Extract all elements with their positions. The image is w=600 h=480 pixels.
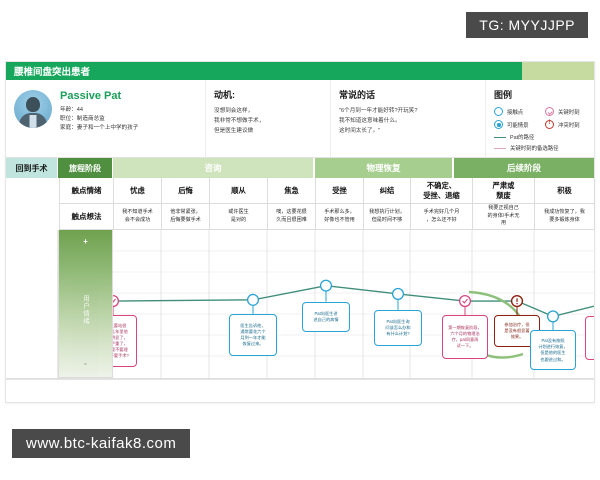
- persona-banner-title: 腰椎间盘突出患者: [6, 62, 522, 80]
- legend-item-alt-path: 关键时刻的备选路径: [494, 144, 588, 152]
- legend-icon-grid: 接触点 关键时刻 可能情景 冲突时刻: [494, 107, 588, 129]
- legend-label-alt-path: 关键时刻的备选路径: [510, 144, 559, 152]
- legend-label-conflict: 冲突时刻: [558, 121, 580, 129]
- legend-line-rows: Pat的路径 关键时刻的备选路径: [494, 133, 588, 152]
- key-moment-check-icon: [545, 107, 554, 116]
- quote-text: "6个月到一年才能好转?开玩笑?我不知道这意味着什么。这时间太长了。": [339, 107, 479, 136]
- persona-motivation: 动机: 没想到会这样，我非常不想做手术，但是医生建议做: [206, 80, 331, 157]
- journey-callout: 医生告诉他，通常要花六个月到一年才能恢复过来。: [229, 314, 277, 356]
- legend-label-possible-scenario: 可能情景: [507, 121, 529, 129]
- emotion-cell: 后悔: [162, 178, 210, 204]
- emotion-cell: 忧虑: [114, 178, 162, 204]
- legend-item-possible-scenario: 可能情景: [494, 120, 537, 129]
- persona-quote: 常说的话 "6个月到一年才能好转?开玩笑?我不知道这意味着什么。这时间太长了。": [331, 80, 486, 157]
- thought-cell: 我要正视自己的身体/手术无用: [473, 204, 535, 230]
- journey-map-board: 腰椎间盘突出患者 Passive Pat 年龄：44 职位：制造商总监 家庭：妻…: [6, 62, 594, 402]
- emotion-cell: 纠结: [364, 178, 411, 204]
- emotion-cell: 不确定、受挫、退缩: [411, 178, 473, 204]
- journey-stage-label: 旅程阶段: [58, 158, 113, 178]
- axis-ylabel: 用户情绪: [82, 295, 90, 325]
- axis-plus-marker: +: [59, 237, 112, 246]
- persona-banner-tail: [522, 62, 594, 80]
- possible-scenario-icon: [494, 120, 503, 129]
- emotion-cell: 严肃或颓废: [473, 178, 535, 204]
- thought-cell: 手术完好几个月，怎么还不好: [411, 204, 473, 230]
- thought-cell: 或许医生是对的: [210, 204, 268, 230]
- back-to-surgery-label: 回到手术: [6, 158, 58, 178]
- board-bottom-strip: [6, 379, 594, 394]
- persona-detail-role: 职位：制造商总监: [60, 115, 138, 124]
- legend-item-touchpoint: 接触点: [494, 107, 537, 116]
- stage-header-row: 回到手术 旅程阶段 咨询 物理恢复 后续阶段: [6, 158, 594, 178]
- persona-detail-age: 年龄：44: [60, 106, 138, 115]
- journey-callout: 第一期恢复阶段，六个月的物理治疗，pat同意再试一下。: [442, 315, 488, 359]
- legend-label-touchpoint: 接触点: [507, 108, 523, 116]
- axis-minus-marker: -: [59, 359, 112, 368]
- legend-item-key-moment: 关键时刻: [545, 107, 588, 116]
- journey-callout: Pat向医生讲述自己的病情: [302, 302, 350, 332]
- quote-heading: 常说的话: [339, 88, 479, 101]
- chart-plot-area: pat每天要站很久，这几年里他疼痛更明显了，疼痛更严重了，医生说要不要理疗，要不…: [113, 230, 594, 378]
- emotion-row: 触点情绪 忧虑后悔顺从焦急受挫纠结不确定、受挫、退缩严肃或颓废积极: [6, 178, 594, 204]
- thought-row: 触点想法 我不知道手术会不会成功他非常紧张，后悔要做手术或许医生是对的噢，这要花…: [6, 204, 594, 230]
- persona-banner: 腰椎间盘突出患者: [6, 62, 594, 80]
- journey-callout: pat每天要站很久，这几年里他疼痛更明显了，疼痛更严重了，医生说要不要理疗，要不…: [113, 315, 137, 367]
- thought-cell: 他非常紧张，后悔要做手术: [162, 204, 210, 230]
- stage-physical-recovery: 物理恢复: [315, 158, 454, 178]
- emotion-axis: + 用户情绪 -: [58, 230, 113, 378]
- chart-left-gutter: [6, 230, 58, 378]
- persona-identity: Passive Pat 年龄：44 职位：制造商总监 家庭：妻子和一个上中学的孩…: [6, 80, 206, 157]
- emotion-row-label: 触点情绪: [59, 178, 114, 204]
- thought-cell: 我想执行计划，但是时间不够: [364, 204, 411, 230]
- row-spacer: [6, 204, 59, 230]
- emotion-cell: 焦急: [268, 178, 316, 204]
- thought-cell: 我成功恢复了，我要多锻炼身体: [535, 204, 595, 230]
- thought-cell: 噢，这要花很久而且很困难: [268, 204, 316, 230]
- persona-detail-family: 家庭：妻子和一个上中学的孩子: [60, 124, 138, 133]
- dashed-line-icon: [494, 148, 506, 149]
- top-watermark: TG: MYYJJPP: [466, 12, 588, 38]
- motivation-heading: 动机:: [214, 88, 324, 101]
- thought-cell: 手术那么多，好像也不管用: [316, 204, 364, 230]
- emotion-cell: 受挫: [316, 178, 364, 204]
- avatar: [14, 90, 52, 128]
- bottom-watermark: www.btc-kaifak8.com: [12, 429, 190, 458]
- journey-callout: 6个月恢复后，医生和他讨论为什么进展缓慢。: [585, 316, 594, 360]
- journey-path-svg: [113, 230, 594, 378]
- emotion-cells: 忧虑后悔顺从焦急受挫纠结不确定、受挫、退缩严肃或颓废积极: [114, 178, 595, 204]
- journey-callout: Pat没有按照计划进行恢复，但是他的医生也跟进过和。: [530, 330, 576, 370]
- row-spacer: [6, 178, 59, 204]
- stage-consult: 咨询: [113, 158, 315, 178]
- legend-item-conflict: 冲突时刻: [545, 120, 588, 129]
- conflict-moment-icon: [545, 120, 554, 129]
- legend: 图例 接触点 关键时刻 可能情景 冲突时刻: [486, 80, 594, 157]
- thought-row-label: 触点想法: [59, 204, 114, 230]
- legend-item-main-path: Pat的路径: [494, 133, 588, 141]
- emotion-cell: 顺从: [210, 178, 268, 204]
- motivation-text: 没想到会这样，我非常不想做手术，但是医生建议做: [214, 107, 324, 136]
- journey-callout: Pat向医生询问该怎么办和有什么计划?: [374, 310, 422, 346]
- touchpoint-circle-icon: [494, 107, 503, 116]
- stage-followup: 后续阶段: [454, 158, 594, 178]
- legend-label-key-moment: 关键时刻: [558, 108, 580, 116]
- emotion-journey-chart: + 用户情绪 - pat每天要站很久，这几年里他疼痛更明显了，疼痛更严重了，医生…: [6, 230, 594, 379]
- persona-name: Passive Pat: [60, 90, 138, 102]
- legend-heading: 图例: [494, 88, 588, 101]
- persona-summary: Passive Pat 年龄：44 职位：制造商总监 家庭：妻子和一个上中学的孩…: [6, 80, 594, 158]
- thought-cells: 我不知道手术会不会成功他非常紧张，后悔要做手术或许医生是对的噢，这要花很久而且很…: [114, 204, 595, 230]
- thought-cell: 我不知道手术会不会成功: [114, 204, 162, 230]
- legend-label-main-path: Pat的路径: [510, 133, 534, 141]
- emotion-cell: 积极: [535, 178, 595, 204]
- solid-line-icon: [494, 137, 506, 138]
